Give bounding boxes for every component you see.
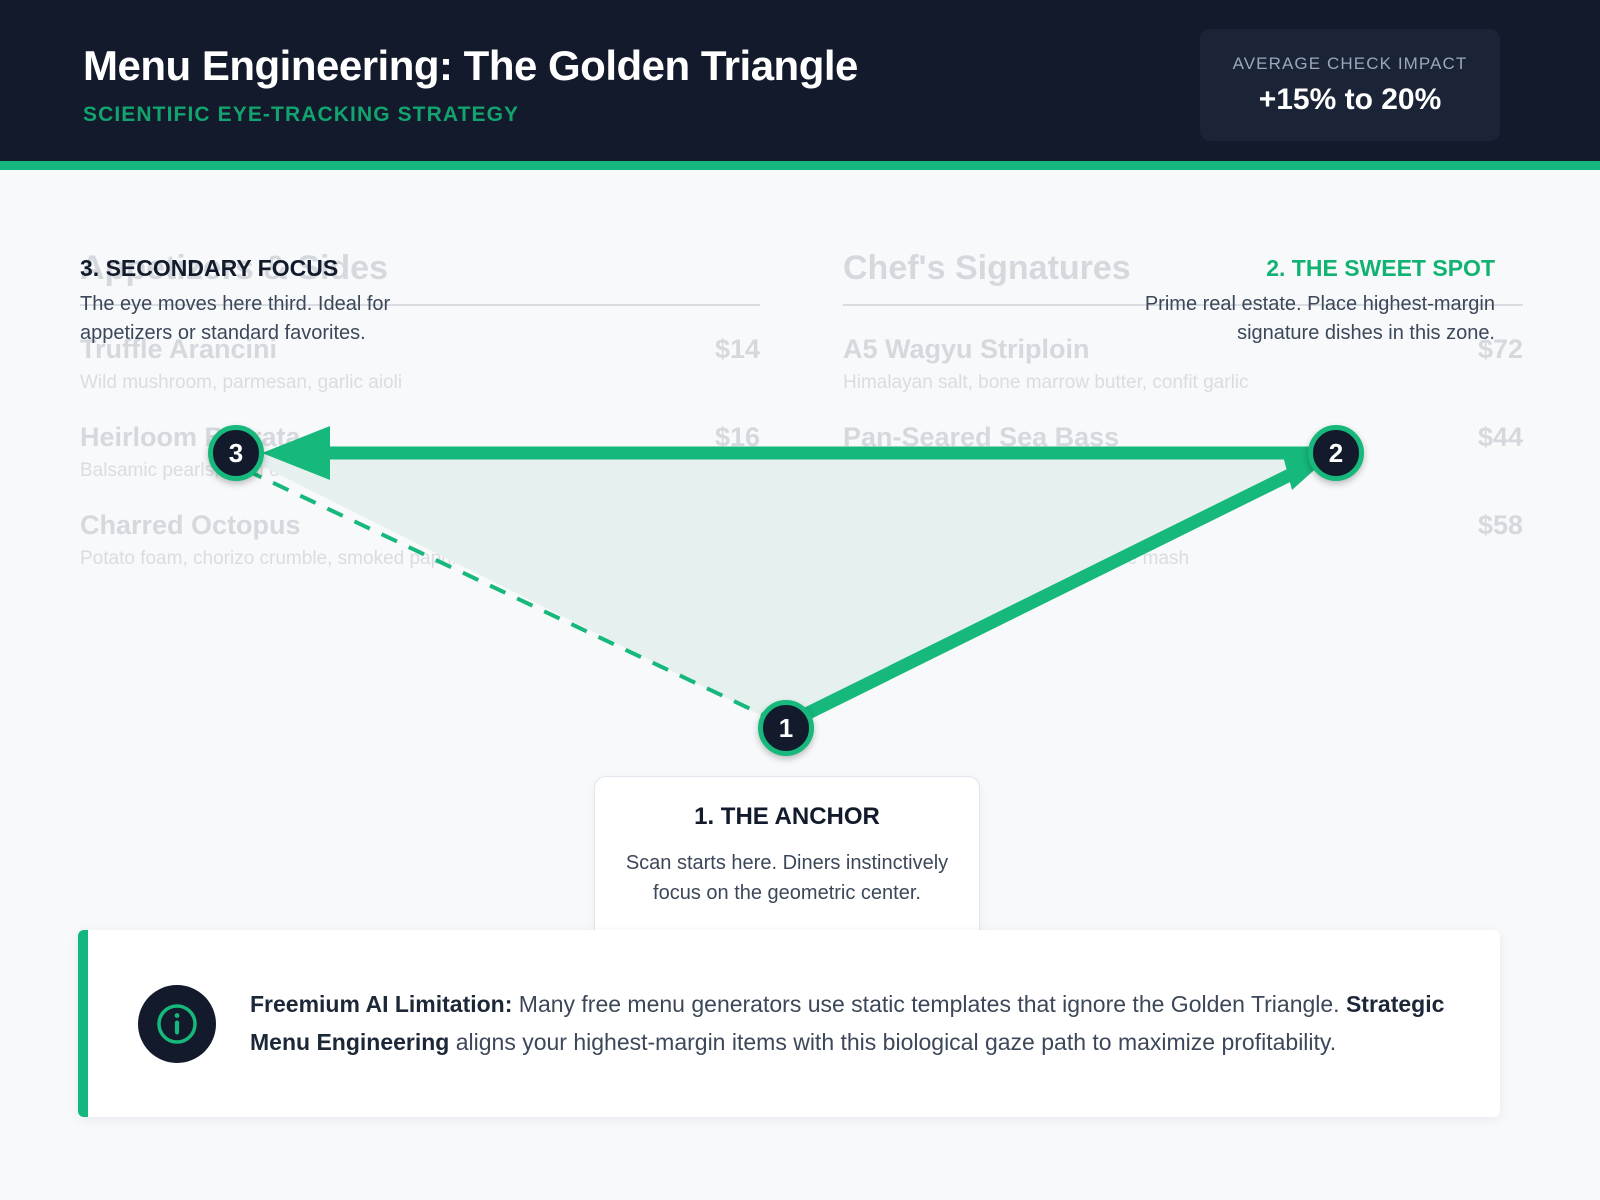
page-title: Menu Engineering: The Golden Triangle [83, 42, 858, 90]
menu-item: Dry-Aged Ribeye $58 14oz prime cut, red … [843, 510, 1523, 570]
infographic-page: Menu Engineering: The Golden Triangle SC… [0, 0, 1600, 1200]
node-number: 3 [229, 438, 243, 469]
dish-description: Potato foam, chorizo crumble, smoked pap… [80, 548, 760, 570]
note-lead: Freemium AI Limitation: [250, 991, 512, 1017]
dish-price: $16 [715, 422, 760, 453]
callout-title: 2. THE SWEET SPOT [1100, 255, 1495, 282]
badge-label: AVERAGE CHECK IMPACT [1233, 54, 1468, 74]
anchor-body: Scan starts here. Diners instinctively f… [625, 848, 949, 909]
note-text: Freemium AI Limitation: Many free menu g… [250, 986, 1460, 1061]
dish-name: Pan-Seared Sea Bass [843, 422, 1119, 453]
dish-price: $14 [715, 334, 760, 365]
dish-price: $19 [715, 510, 760, 541]
callout-sweet-spot: 2. THE SWEET SPOT Prime real estate. Pla… [1100, 255, 1495, 348]
gaze-node-marker-1[interactable]: 1 [758, 700, 814, 756]
dish-name: Charred Octopus [80, 510, 301, 541]
node-number: 2 [1329, 438, 1343, 469]
menu-item: Charred Octopus $19 Potato foam, chorizo… [80, 510, 760, 570]
page-subtitle: SCIENTIFIC EYE-TRACKING STRATEGY [83, 103, 519, 127]
anchor-title: 1. THE ANCHOR [625, 803, 949, 831]
dish-price: $44 [1478, 422, 1523, 453]
menu-item: Pan-Seared Sea Bass $44 Saffron risotto,… [843, 422, 1523, 482]
menu-item: Heirloom Burrata $16 Balsamic pearls, ba… [80, 422, 760, 482]
badge-value: +15% to 20% [1259, 83, 1442, 117]
dish-description: Balsamic pearls, basil oil, toasted sour… [80, 460, 760, 482]
dish-description: 14oz prime cut, red wine jus, truffle ma… [843, 548, 1523, 570]
note-text-part-1: Many free menu generators use static tem… [512, 991, 1346, 1017]
limitation-note-banner: Freemium AI Limitation: Many free menu g… [78, 930, 1500, 1117]
gaze-node-marker-2[interactable]: 2 [1308, 425, 1364, 481]
node-number: 1 [779, 713, 793, 744]
callout-body: The eye moves here third. Ideal for appe… [80, 290, 430, 348]
info-icon [138, 985, 216, 1063]
dish-description: Saffron risotto, asparagus, lemon reduct… [843, 460, 1523, 482]
dish-price: $58 [1478, 510, 1523, 541]
page-header: Menu Engineering: The Golden Triangle SC… [0, 0, 1600, 170]
callout-body: Prime real estate. Place highest-margin … [1100, 290, 1495, 348]
callout-secondary-focus: 3. SECONDARY FOCUS The eye moves here th… [80, 255, 430, 348]
note-text-part-2: aligns your highest-margin items with th… [449, 1029, 1336, 1055]
dish-name: Heirloom Burrata [80, 422, 301, 453]
average-check-impact-badge: AVERAGE CHECK IMPACT +15% to 20% [1200, 29, 1500, 141]
dish-description: Wild mushroom, parmesan, garlic aioli [80, 372, 760, 394]
callout-title: 3. SECONDARY FOCUS [80, 255, 430, 282]
dish-name: A5 Wagyu Striploin [843, 334, 1090, 365]
dish-name: Dry-Aged Ribeye [843, 510, 1061, 541]
gaze-node-marker-3[interactable]: 3 [208, 425, 264, 481]
dish-description: Himalayan salt, bone marrow butter, conf… [843, 372, 1523, 394]
